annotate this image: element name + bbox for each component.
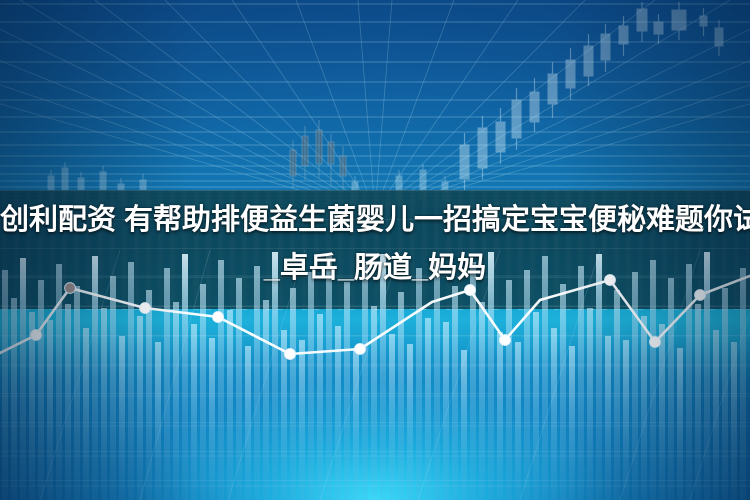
vignette-overlay bbox=[0, 0, 750, 500]
banner-image: 创利配资 有帮助排便益生菌婴儿一招搞定宝宝便秘难题你试过吗 _卓岳_肠道_妈妈 bbox=[0, 0, 750, 500]
